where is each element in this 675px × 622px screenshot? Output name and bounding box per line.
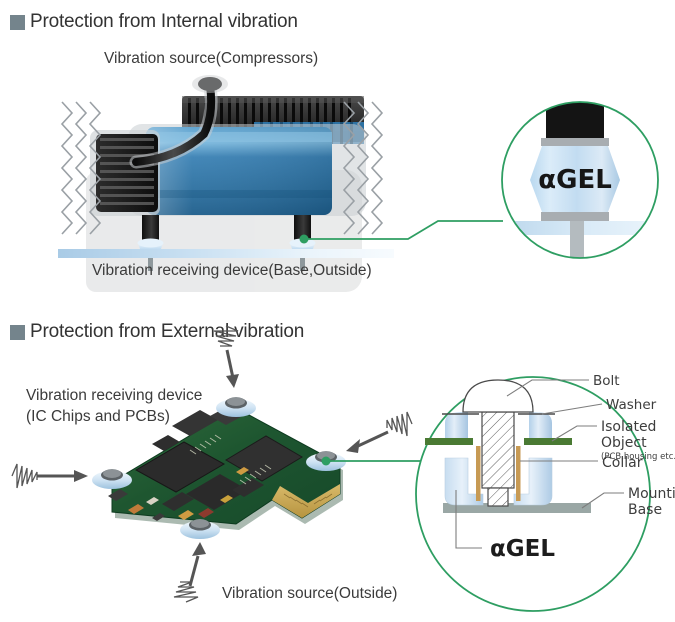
section-heading-external: Protection from External vibration: [10, 321, 304, 343]
section-heading-internal: Protection from Internal vibration: [10, 11, 298, 33]
vibration-receiving-device-base-label: Vibration receiving device(Base,Outside): [92, 261, 372, 282]
top-plate: [541, 138, 609, 146]
gel-upper-left: [445, 412, 468, 438]
agel-label-top: αGEL: [538, 165, 612, 195]
compressor-tank: [128, 124, 366, 216]
stud: [570, 221, 584, 260]
bullet-square-icon-2: [10, 325, 25, 340]
gel-grommet-left: [92, 469, 132, 489]
callout-mounting-base-line1: Mounting: [628, 486, 675, 502]
section-heading-internal-text: Protection from Internal vibration: [30, 11, 298, 33]
vibration-source-compressors-label: Vibration source(Compressors): [104, 49, 318, 70]
callout-isolated-object-line2: Object: [601, 435, 647, 451]
collar-right: [516, 446, 521, 501]
gel-upper-right: [529, 412, 552, 438]
collar-left: [476, 446, 481, 501]
detail-circle-external: Bolt Washer Isolated Object (PCB,housing…: [412, 368, 675, 620]
callout-collar: Collar: [602, 455, 643, 471]
isolated-object-right: [524, 438, 572, 445]
isolated-object-left: [425, 438, 473, 445]
callout-washer: Washer: [606, 397, 657, 413]
callout-mounting-base-line2: Base: [628, 502, 662, 518]
gel-grommet-top: [216, 397, 256, 417]
leg-black: [546, 90, 604, 138]
vibration-arrow-right: [346, 412, 412, 453]
detail-circle-internal: αGEL: [486, 100, 674, 260]
callout-agel: αGEL: [490, 536, 555, 562]
callout-isolated-object-line1: Isolated: [601, 419, 656, 435]
leader-line-internal: [298, 215, 513, 265]
bottom-plate: [541, 212, 609, 221]
vibration-source-outside-label: Vibration source(Outside): [222, 584, 397, 605]
bullet-square-icon: [10, 15, 25, 30]
section-heading-external-text: Protection from External vibration: [30, 321, 304, 343]
vibration-arrow-left: [12, 464, 88, 488]
vibration-arrow-bottom: [174, 542, 206, 602]
callout-bolt: Bolt: [593, 373, 620, 389]
radiator-block: [90, 130, 160, 216]
